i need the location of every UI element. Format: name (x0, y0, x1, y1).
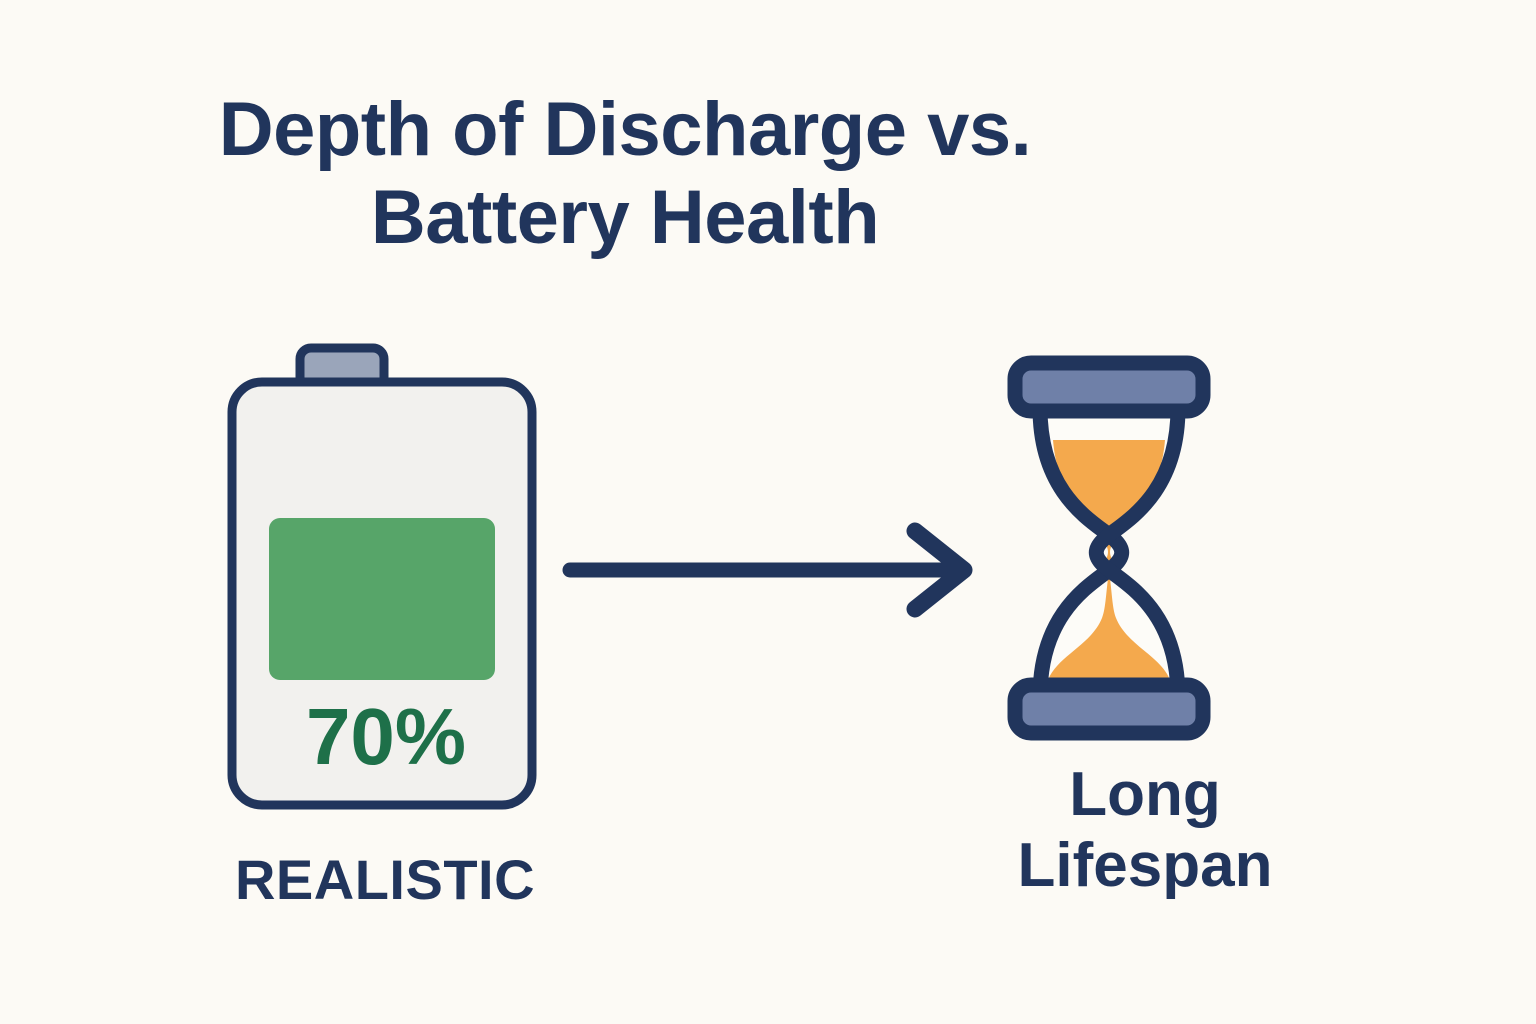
page-title-line-1: Depth of Discharge vs. (160, 86, 1090, 174)
hourglass-top-bar (1015, 363, 1203, 411)
right-caption-line-1: Long (960, 760, 1330, 831)
hourglass-bottom-bar (1015, 685, 1203, 733)
right-arrow-icon (560, 520, 990, 620)
right-caption-label: Long Lifespan (960, 760, 1330, 901)
left-caption-label: REALISTIC (150, 848, 620, 912)
page-title-line-2: Battery Health (160, 174, 1090, 262)
right-caption-line-2: Lifespan (960, 831, 1330, 902)
flow-arrow (560, 520, 990, 620)
infographic-canvas: Depth of Discharge vs. Battery Health 70… (0, 0, 1536, 1024)
battery-charge-label: 70% (306, 692, 466, 781)
page-title: Depth of Discharge vs. Battery Health (160, 86, 1090, 262)
battery-charge-fill (269, 518, 495, 680)
